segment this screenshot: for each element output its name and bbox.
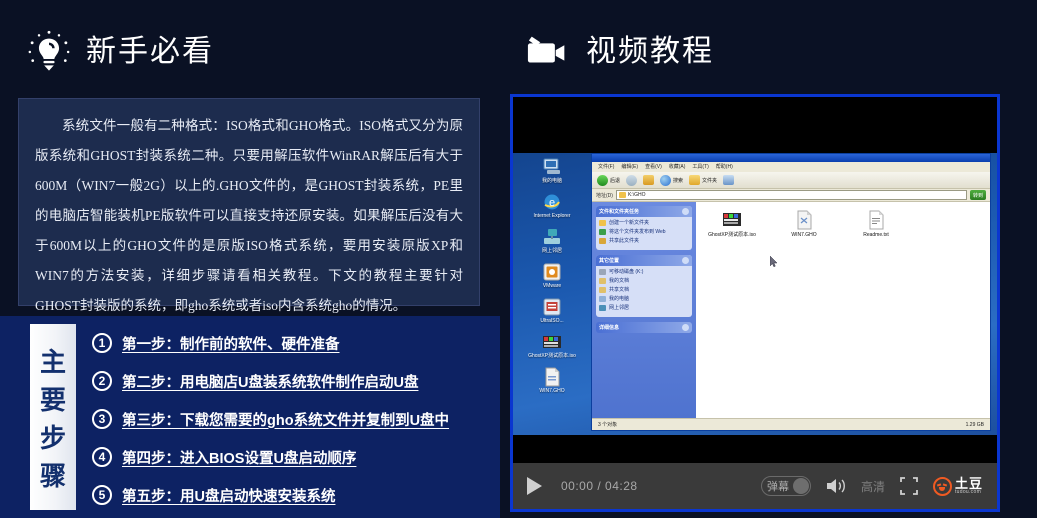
place-item[interactable]: 网上邻居 [599,305,689,311]
desktop-icon-my-computer[interactable]: 我的电脑 [519,157,585,184]
step-link-2[interactable]: 第二步：用电脑店U盘装系统软件制作启动U盘 [122,371,418,392]
step-link-3[interactable]: 第三步：下载您需要的gho系统文件并复制到U盘中 [122,409,449,430]
desktop-icon-label: 网上邻居 [519,248,585,254]
video-section-header: 视频教程 [500,0,1037,78]
left-column: 新手必看 系统文件一般有二种格式：ISO格式和GHO格式。ISO格式又分为原版系… [0,0,500,518]
iso-file-icon [541,332,563,352]
task-card-header[interactable]: 详细信息 [596,322,692,333]
step-number-1: 1 [92,333,112,353]
search-icon [660,175,671,186]
video-stage[interactable]: 我的电脑 e Internet Explorer [513,97,997,459]
toolbar-search-button[interactable]: 搜索 [660,175,683,186]
new-folder-icon [599,220,606,226]
file-item-gho[interactable]: WIN7.GHO [778,210,830,238]
letterbox-top [513,97,997,153]
step-number-4: 4 [92,447,112,467]
task-card-body: 创建一个新文件夹 将这个文件夹发布到 Web 共享此 [596,217,692,250]
lightbulb-icon [26,29,72,75]
intro-panel: 系统文件一般有二种格式：ISO格式和GHO格式。ISO格式又分为原版系统和GHO… [18,98,480,306]
steps-label-char-0: 主 [40,344,66,380]
ultraiso-icon [541,297,563,317]
volume-icon[interactable] [825,476,847,496]
desktop-icon-label: WIN7.GHO [519,388,585,394]
desktop-icon-ghostxp-iso[interactable]: GhostXP测试原本.iso [519,332,585,359]
task-item[interactable]: 共享此文件夹 [599,238,689,244]
steps-label-char-2: 步 [40,420,66,456]
task-item[interactable]: 创建一个新文件夹 [599,220,689,226]
tudou-domain: tudou.com [955,490,983,495]
place-item-label: 我的电脑 [609,296,629,302]
up-folder-icon[interactable] [643,175,654,185]
xp-task-sidebar: 文件和文件夹任务 创建一个新文件夹 [592,202,696,418]
share-folder-icon [599,238,606,244]
play-button[interactable] [527,476,547,496]
task-card-other-places: 其它位置 可移动磁盘 (K:) [596,255,692,317]
xp-file-list[interactable]: GhostXP测试原本.iso WIN7.GHO [696,202,990,418]
place-item[interactable]: 可移动磁盘 (K:) [599,269,689,275]
address-input[interactable]: K:\GHO [616,190,967,200]
folder-icon [619,192,626,198]
step-number-2: 2 [92,371,112,391]
removable-disk-icon [599,269,606,275]
task-item-label: 将这个文件夹发布到 Web [609,229,666,235]
xp-toolbar[interactable]: 后退 搜索 文件夹 [592,172,990,189]
menu-favorites[interactable]: 收藏(A) [669,164,686,170]
menu-view[interactable]: 查看(V) [645,164,662,170]
place-item-label: 我的文档 [609,278,629,284]
file-name: Readme.txt [850,232,902,238]
my-computer-icon [599,296,606,302]
video-section-title: 视频教程 [586,37,714,67]
desktop-icon-label: 我的电脑 [519,178,585,184]
video-time-display: 00:00 / 04:28 [561,479,638,493]
task-card-details: 详细信息 [596,322,692,333]
chevron-collapse-icon[interactable] [682,257,689,264]
desktop-icon-network-places[interactable]: 网上邻居 [519,227,585,254]
toolbar-search-label: 搜索 [673,177,683,184]
tudou-logo[interactable]: 土豆 tudou.com [933,477,983,496]
ie-icon: e [541,192,563,212]
desktop-icon-ie[interactable]: e Internet Explorer [519,192,585,219]
menu-tools[interactable]: 工具(T) [692,164,708,170]
step-number-3: 3 [92,409,112,429]
mouse-cursor-icon [770,256,777,267]
tudou-face-icon [933,477,952,496]
task-card-header[interactable]: 文件和文件夹任务 [596,206,692,217]
xp-menu-bar[interactable]: 文件(F) 编辑(E) 查看(V) 收藏(A) 工具(T) 帮助(H) [592,162,990,172]
steps-label-char-3: 骤 [40,458,66,494]
step-item-5[interactable]: 5 第五步：用U盘启动快速安装系统 [92,479,492,511]
file-item-readme[interactable]: Readme.txt [850,210,902,238]
right-column: 视频教程 我的电脑 [500,0,1037,518]
task-item-label: 共享此文件夹 [609,238,639,244]
network-places-icon [599,305,606,311]
toolbar-folders-button[interactable]: 文件夹 [689,175,717,185]
tudou-wordmark: 土豆 tudou.com [955,477,983,495]
xp-window-titlebar[interactable] [592,154,990,162]
page-root: 新手必看 系统文件一般有二种格式：ISO格式和GHO格式。ISO格式又分为原版系… [0,0,1037,518]
forward-arrow-icon[interactable] [626,175,637,186]
place-item[interactable]: 我的文档 [599,278,689,284]
gho-file-icon [541,367,563,387]
toggle-knob[interactable] [793,478,809,494]
place-item-label: 网上邻居 [609,305,629,311]
main-steps-label: 主 要 步 骤 [30,324,76,510]
file-row: GhostXP测试原本.iso WIN7.GHO [706,210,990,238]
gho-file-icon [793,210,815,230]
my-computer-icon [541,157,563,177]
menu-edit[interactable]: 编辑(E) [621,164,638,170]
steps-list: 1 第一步：制作前的软件、硬件准备 2 第二步：用电脑店U盘装系统软件制作启动U… [92,324,492,514]
desktop-icon-label: VMware [519,283,585,289]
my-documents-icon [599,278,606,284]
xp-status-bar: 3 个对象 1.29 GB [592,418,990,430]
task-card-title: 详细信息 [599,324,619,331]
svg-text:e: e [549,197,555,209]
beginner-section-title: 新手必看 [86,37,214,67]
fullscreen-icon[interactable] [899,476,919,496]
beginner-section-header: 新手必看 [0,0,500,78]
xp-window-body: 文件和文件夹任务 创建一个新文件夹 [592,202,990,418]
desktop-icon-label: Internet Explorer [519,213,585,219]
task-item[interactable]: 将这个文件夹发布到 Web [599,229,689,235]
xp-desktop-screenshot: 我的电脑 e Internet Explorer [513,153,997,435]
quality-label[interactable]: 高清 [861,478,885,495]
file-item-iso[interactable]: GhostXP测试原本.iso [706,210,758,238]
video-camera-icon [526,29,572,75]
video-control-bar: 00:00 / 04:28 弹幕 高清 [513,463,997,509]
steps-label-char-1: 要 [40,382,66,418]
step-item-3[interactable]: 3 第三步：下载您需要的gho系统文件并复制到U盘中 [92,403,492,435]
step-link-4[interactable]: 第四步：进入BIOS设置U盘启动顺序 [122,447,356,468]
folder-icon [689,175,700,185]
address-label: 地址(D) [596,192,613,199]
back-arrow-icon [597,175,608,186]
toolbar-back-label: 后退 [610,177,620,184]
task-card-title: 其它位置 [599,257,619,264]
address-go-button[interactable]: 转到 [970,190,986,200]
step-item-2[interactable]: 2 第二步：用电脑店U盘装系统软件制作启动U盘 [92,365,492,397]
task-card-header[interactable]: 其它位置 [596,255,692,266]
place-item[interactable]: 共享文档 [599,287,689,293]
desktop-icon-label: UltraISO... [519,318,585,324]
text-file-icon [865,210,887,230]
letterbox-bottom [513,435,997,459]
intro-paragraph: 系统文件一般有二种格式：ISO格式和GHO格式。ISO格式又分为原版系统和GHO… [19,99,479,321]
danmu-toggle[interactable]: 弹幕 [761,476,811,496]
menu-file[interactable]: 文件(F) [598,164,614,170]
xp-explorer-window[interactable]: 文件(F) 编辑(E) 查看(V) 收藏(A) 工具(T) 帮助(H) 后退 [591,153,991,431]
step-item-4[interactable]: 4 第四步：进入BIOS设置U盘启动顺序 [92,441,492,473]
desktop-icon-ultraiso[interactable]: UltraISO... [519,297,585,324]
status-total-size: 1.29 GB [966,422,984,428]
danmu-label: 弹幕 [762,478,789,494]
place-item-label: 共享文档 [609,287,629,293]
place-item[interactable]: 我的电脑 [599,296,689,302]
desktop-icon-win7-gho[interactable]: WIN7.GHO [519,367,585,394]
desktop-icon-label: GhostXP测试原本.iso [519,353,585,359]
task-card-files-folders: 文件和文件夹任务 创建一个新文件夹 [596,206,692,250]
task-item-label: 创建一个新文件夹 [609,220,649,226]
step-item-1[interactable]: 1 第一步：制作前的软件、硬件准备 [92,327,492,359]
task-card-body: 可移动磁盘 (K:) 我的文档 共享文档 [596,266,692,317]
video-player[interactable]: 我的电脑 e Internet Explorer [510,94,1000,512]
play-icon [527,477,542,495]
views-icon[interactable] [723,175,734,185]
file-name: WIN7.GHO [778,232,830,238]
shared-documents-icon [599,287,606,293]
network-places-icon [541,227,563,247]
iso-file-icon [721,210,743,230]
step-link-5[interactable]: 第五步：用U盘启动快速安装系统 [122,485,335,506]
toolbar-back-button[interactable]: 后退 [597,175,620,186]
step-number-5: 5 [92,485,112,505]
task-card-title: 文件和文件夹任务 [599,208,639,215]
xp-address-bar[interactable]: 地址(D) K:\GHO 转到 [592,189,990,202]
file-name: GhostXP测试原本.iso [706,232,758,238]
place-item-label: 可移动磁盘 (K:) [609,269,643,275]
address-value: K:\GHO [628,192,646,198]
go-label: 转到 [973,192,983,199]
desktop-icon-vmware[interactable]: VMware [519,262,585,289]
vmware-icon [541,262,563,282]
chevron-collapse-icon[interactable] [682,324,689,331]
step-link-1[interactable]: 第一步：制作前的软件、硬件准备 [122,333,340,354]
chevron-collapse-icon[interactable] [682,208,689,215]
xp-desktop-icon-list: 我的电脑 e Internet Explorer [519,157,585,402]
publish-web-icon [599,229,606,235]
status-object-count: 3 个对象 [598,421,617,428]
menu-help[interactable]: 帮助(H) [716,164,733,170]
toolbar-folders-label: 文件夹 [702,177,717,184]
